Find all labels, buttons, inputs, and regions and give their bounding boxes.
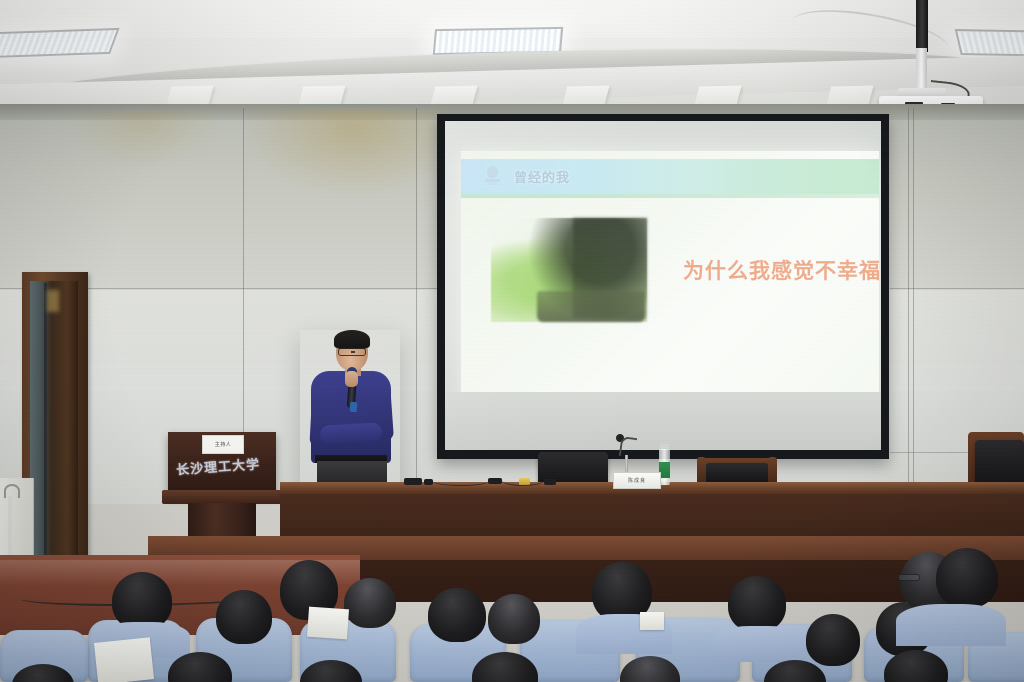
wall-seam: [913, 108, 914, 500]
microphone-tip: [350, 402, 358, 412]
water-bottle-cap: [660, 444, 669, 449]
audience-head: [344, 578, 396, 628]
speaker-hand: [345, 371, 358, 387]
slide-header-underline: [461, 194, 879, 198]
desk-cable: [430, 474, 492, 486]
audience-shoulders: [896, 604, 1006, 646]
hanging-wire: [8, 496, 12, 558]
slide-question-text: 为什么我感觉不幸福？: [683, 255, 879, 285]
audience-glasses: [898, 574, 920, 581]
audience-paper: [307, 607, 349, 640]
wall-hook-icon: [4, 484, 20, 498]
slide-header-title: 曾经的我: [514, 167, 570, 186]
audience-paper: [94, 637, 154, 682]
gooseneck-microphone-neck: [619, 436, 638, 458]
audience-head: [806, 614, 860, 666]
conference-chair-seat[interactable]: [705, 463, 769, 483]
speaker-glasses: [338, 348, 366, 356]
ceiling-light-panel-left: [0, 28, 120, 58]
table-name-card: 陈成良: [613, 472, 661, 489]
speaker-folded-forearm: [320, 422, 383, 444]
wall-seam: [890, 288, 1024, 289]
podium-lip: [162, 490, 282, 504]
projection-screen: 曾经的我 为什么我感觉不幸福？: [437, 114, 889, 459]
speaker-hair: [334, 330, 370, 349]
slide-photo-pot: [537, 291, 645, 322]
audience-head: [488, 594, 540, 644]
table-name-card-text: 陈成良: [628, 477, 646, 484]
slide-header-bar: 曾经的我: [461, 159, 879, 194]
wall-seam: [416, 108, 417, 500]
remote-control[interactable]: [404, 478, 422, 485]
conference-chair-seat-right[interactable]: [975, 440, 1024, 488]
wall-seam: [908, 108, 909, 500]
screen-surface: 曾经的我 为什么我感觉不幸福？: [445, 121, 881, 450]
lecture-hall-photo: 曾经的我 为什么我感觉不幸福？ 主持人 长沙理工大学: [0, 0, 1024, 682]
podium-card-text: 主持人: [215, 441, 232, 448]
door-gap: [44, 283, 47, 563]
audience-head: [216, 590, 272, 644]
audience-head: [728, 576, 786, 632]
presentation-slide: 曾经的我 为什么我感觉不幸福？: [461, 151, 879, 407]
door-light-glow: [47, 290, 59, 312]
side-door[interactable]: [30, 281, 78, 564]
lamp-logo-icon: [483, 166, 502, 188]
projector-mount-pole: [916, 0, 928, 52]
audience-head: [428, 588, 486, 642]
audience-head: [936, 548, 998, 608]
audience-shoulders: [712, 626, 806, 662]
desk-cable: [500, 472, 546, 486]
screen-blank-area: [445, 392, 881, 450]
ceiling-light-panel-right: [955, 29, 1024, 57]
podium-name-card: 主持人: [202, 435, 244, 454]
audience-paper: [640, 612, 664, 630]
